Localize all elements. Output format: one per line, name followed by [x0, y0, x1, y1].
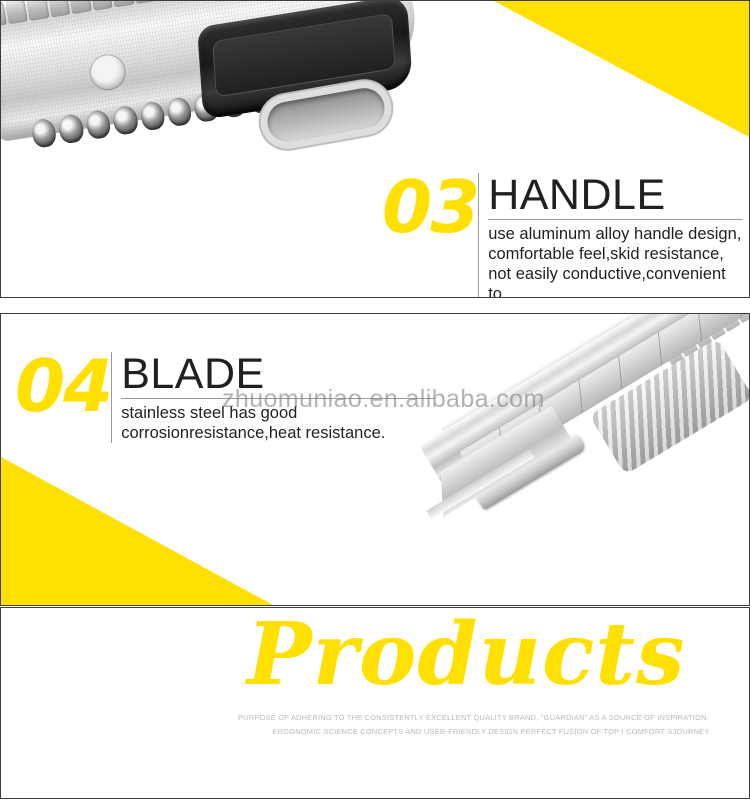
spec-text-blade: BLADE stainless steel has good corrosion…	[111, 352, 435, 443]
spec-description-blade: stainless steel has good corrosionresist…	[121, 399, 435, 443]
panel-handle: 03 HANDLE use aluminum alloy handle desi…	[0, 0, 750, 298]
spec-text-handle: HANDLE use aluminum alloy handle design,…	[478, 173, 742, 298]
products-heading: Products	[247, 612, 686, 698]
handle-product-photo	[0, 0, 441, 193]
products-tagline-line-2: ERGONOMIC SCIENCE CONCEPTS AND USER-FRIE…	[238, 725, 744, 739]
spec-number-03: 03	[382, 173, 478, 241]
products-tagline: PURPOSE OF ADHERING TO THE CONSISTENTLY …	[238, 711, 744, 739]
spec-block-blade: 04 BLADE stainless steel has good corros…	[15, 352, 435, 443]
product-detail-page: 03 HANDLE use aluminum alloy handle desi…	[0, 0, 750, 800]
spec-block-handle: 03 HANDLE use aluminum alloy handle desi…	[382, 173, 742, 298]
yellow-wedge-bottom-left	[1, 457, 273, 605]
spec-number-04: 04	[15, 352, 111, 420]
yellow-wedge-top-right	[494, 1, 749, 137]
spec-title-handle: HANDLE	[488, 173, 742, 220]
products-tagline-line-1: PURPOSE OF ADHERING TO THE CONSISTENTLY …	[238, 711, 744, 725]
spec-title-blade: BLADE	[121, 352, 435, 399]
panel-blade: 04 BLADE stainless steel has good corros…	[0, 313, 750, 606]
spec-description-handle: use aluminum alloy handle design, comfor…	[488, 220, 742, 298]
